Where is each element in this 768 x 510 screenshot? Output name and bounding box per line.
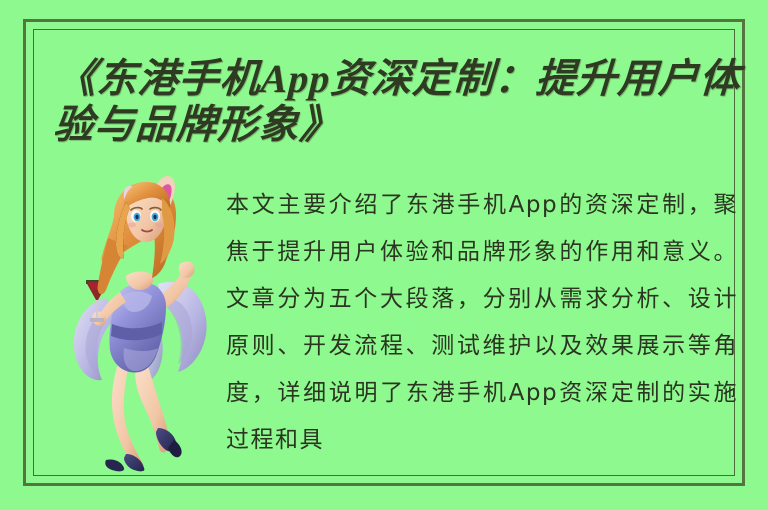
page-title: 《东港手机App资深定制：提升用户体验与品牌形象》 xyxy=(52,56,757,148)
article-summary: 本文主要介绍了东港手机App的资深定制，聚焦于提升用户体验和品牌形象的作用和意义… xyxy=(226,182,738,464)
title-block: 《东港手机App资深定制：提升用户体验与品牌形象》 xyxy=(57,56,757,148)
bunny-girl-character-illustration xyxy=(62,172,222,472)
poster-canvas: 《东港手机App资深定制：提升用户体验与品牌形象》 xyxy=(0,0,768,510)
body-text-block: 本文主要介绍了东港手机App的资深定制，聚焦于提升用户体验和品牌形象的作用和意义… xyxy=(226,182,738,464)
high-heel-shoes xyxy=(105,428,181,471)
legs xyxy=(112,364,169,470)
